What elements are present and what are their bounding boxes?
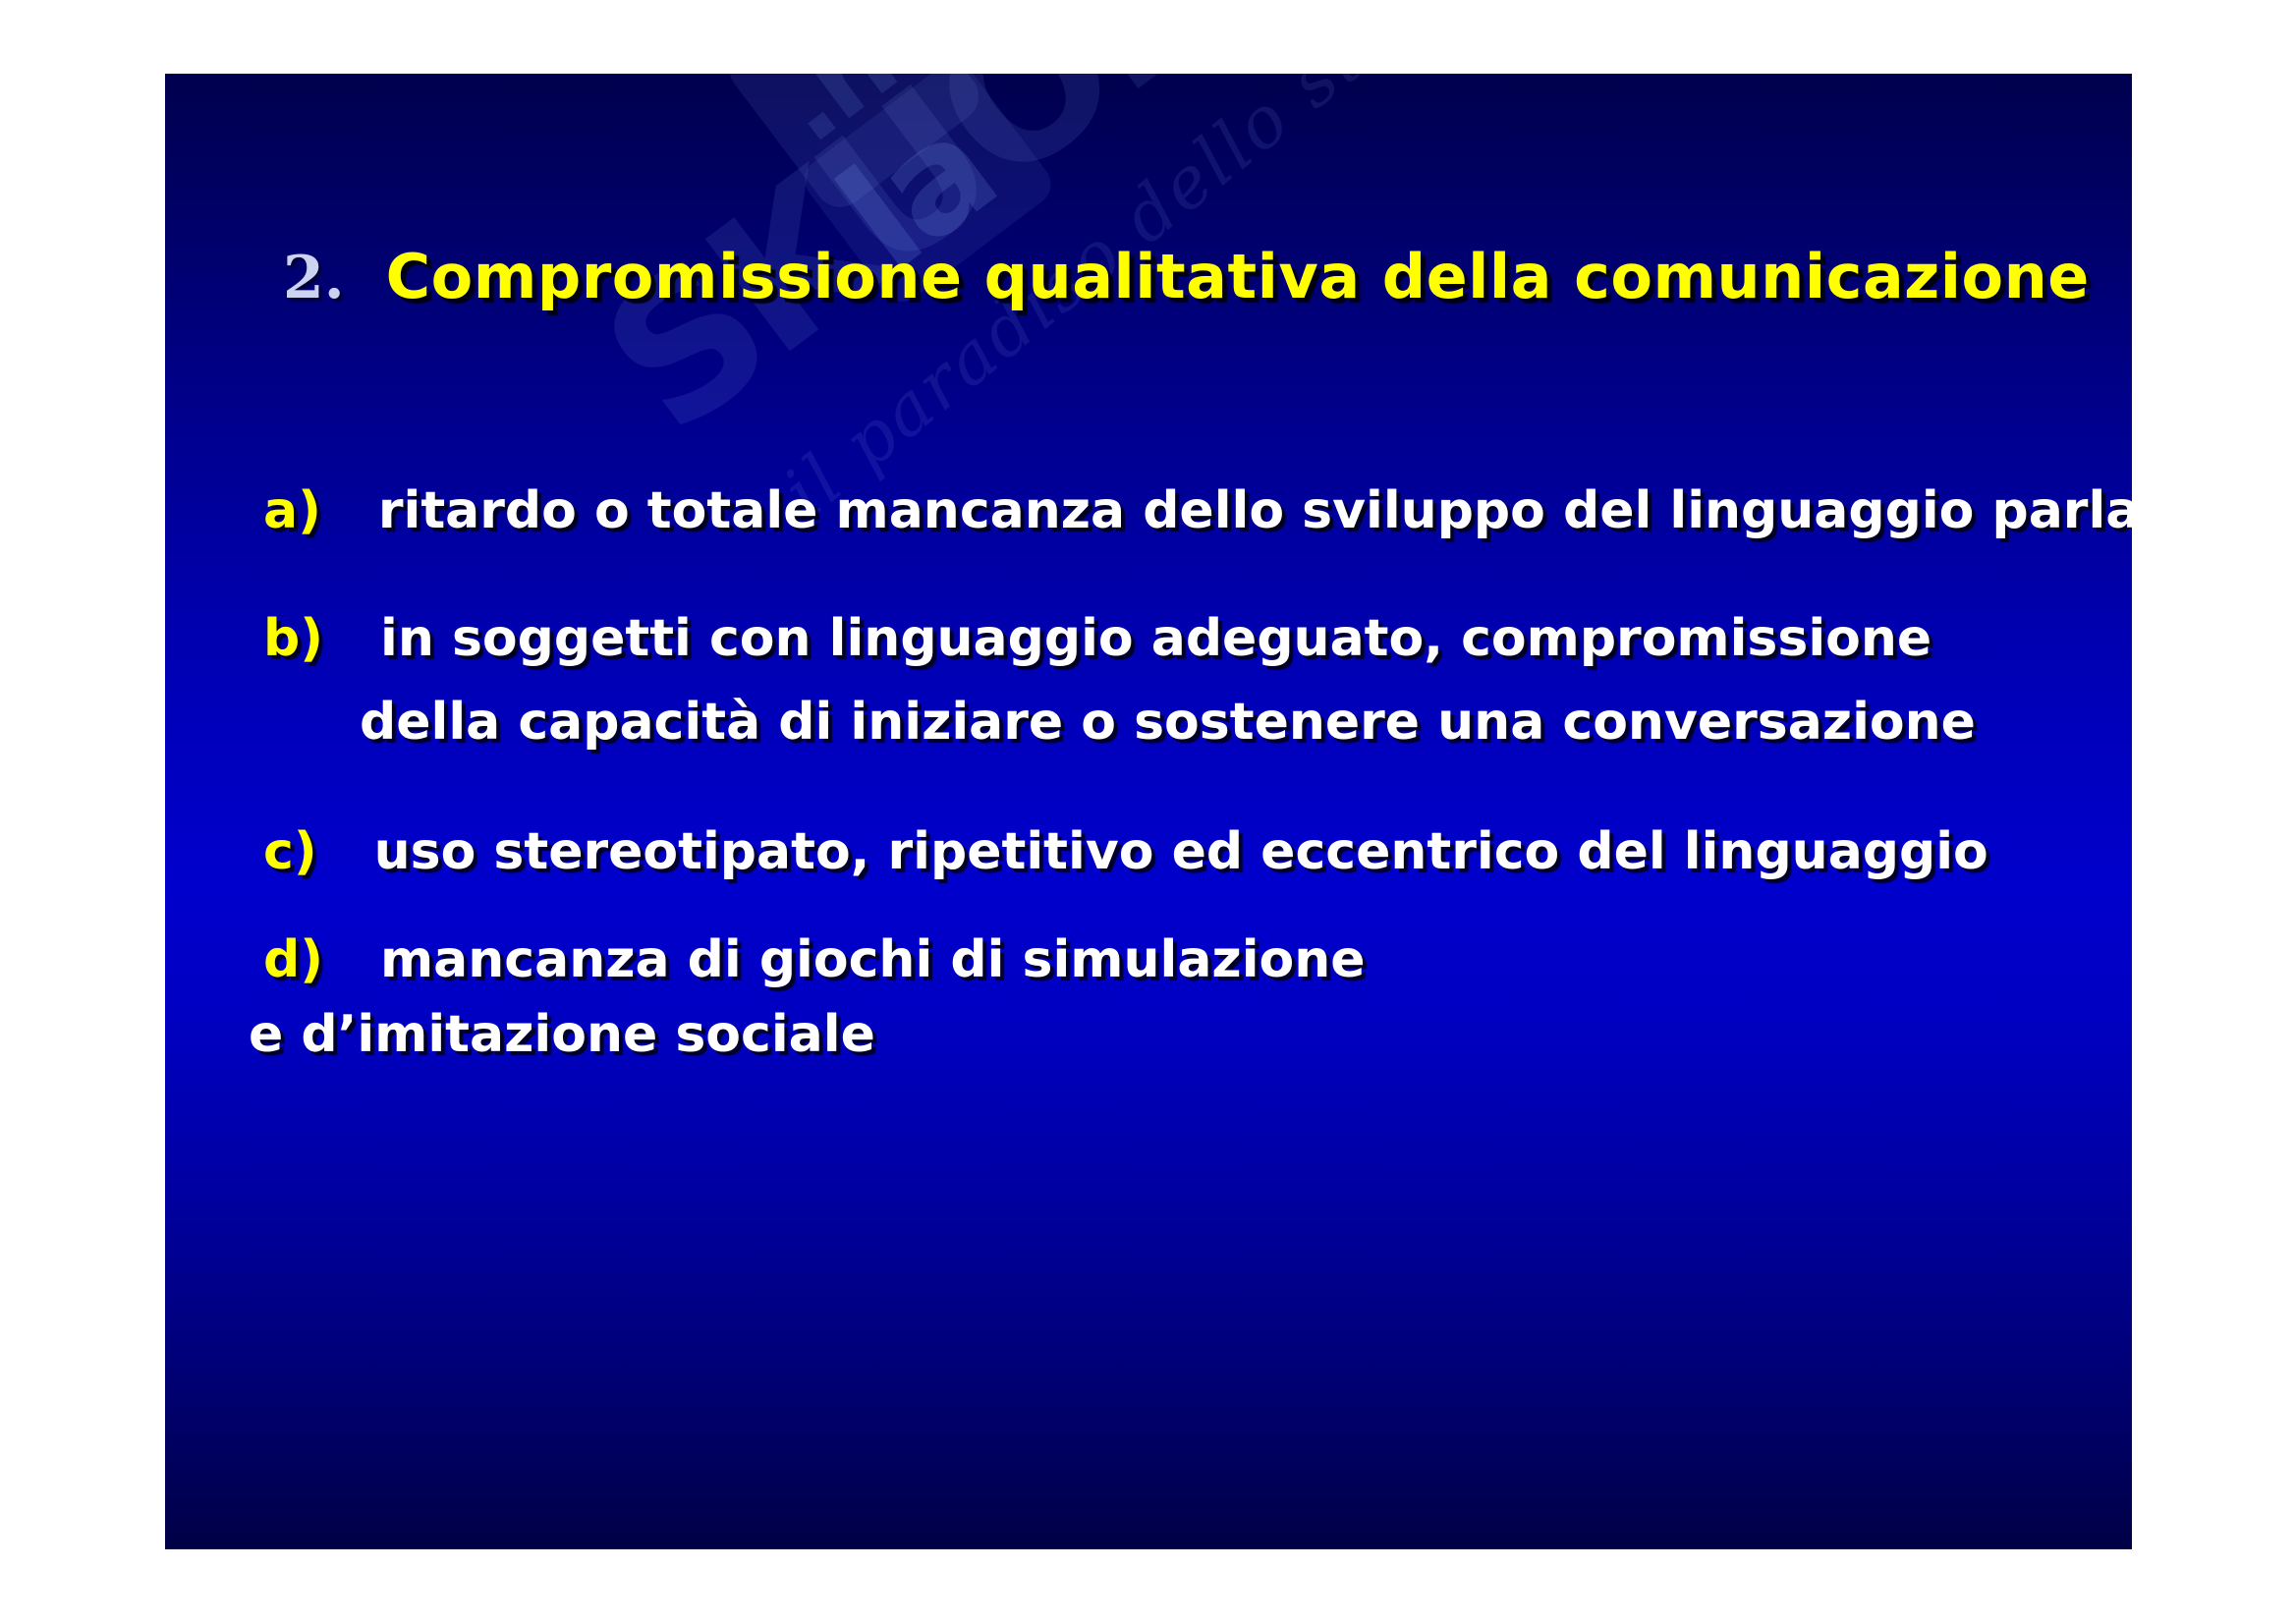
- list-item-text-c: uso stereotipato, ripetitivo ed eccentri…: [374, 822, 1988, 881]
- list-item-text-b-line1: in soggetti con linguaggio adeguato, com…: [380, 609, 1931, 668]
- slide-body-list: a)ritardo o totale mancanza dello svilup…: [165, 74, 2132, 1549]
- list-item-marker-b: b): [263, 609, 323, 668]
- list-item: a)ritardo o totale mancanza dello svilup…: [263, 481, 2132, 540]
- list-item-text-d-line2: e d’imitazione sociale: [249, 1005, 875, 1064]
- list-item-marker-d: d): [263, 930, 323, 989]
- list-item: b)in soggetti con linguaggio adeguato, c…: [263, 609, 1931, 668]
- page-canvas: SKUOLA la .net il paradiso dello student…: [0, 0, 2295, 1624]
- list-item-text-a: ritardo o totale mancanza dello sviluppo…: [378, 481, 2132, 540]
- list-item: c)uso stereotipato, ripetitivo ed eccent…: [263, 822, 1988, 881]
- list-item-continuation: della capacità di iniziare o sostenere u…: [360, 693, 1976, 752]
- list-item-marker-c: c): [263, 822, 317, 881]
- list-item-marker-a: a): [263, 481, 321, 540]
- list-item-text-d-line1: mancanza di giochi di simulazione: [380, 930, 1366, 989]
- presentation-slide: SKUOLA la .net il paradiso dello student…: [165, 74, 2132, 1549]
- list-item: d)mancanza di giochi di simulazione: [263, 930, 1366, 989]
- list-item-continuation: e d’imitazione sociale: [249, 1005, 875, 1064]
- list-item-text-b-line2: della capacità di iniziare o sostenere u…: [360, 693, 1976, 752]
